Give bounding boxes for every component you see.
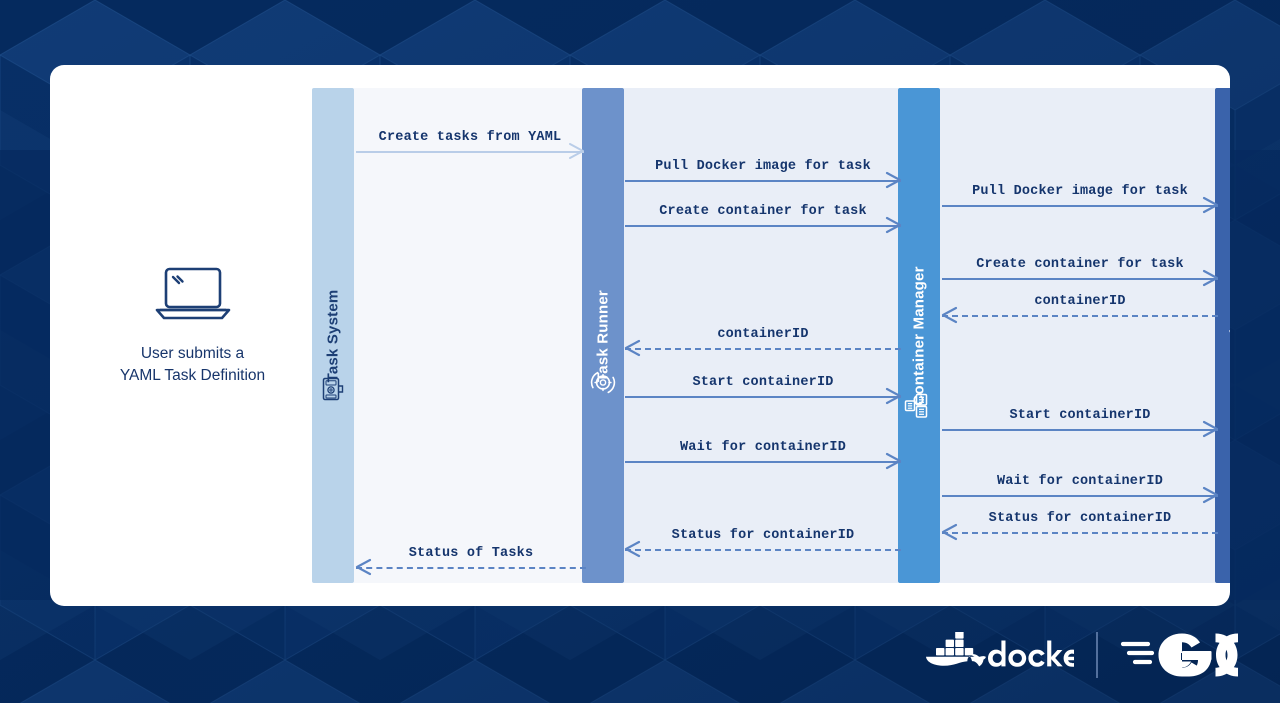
arrow-head-left-icon [940, 523, 958, 541]
arrow-head-left-icon [354, 558, 372, 576]
message-line [356, 151, 584, 153]
arrow-head-right-icon [1202, 420, 1220, 438]
message-line [942, 278, 1218, 280]
arrow-head-left-icon [623, 540, 641, 558]
lifeline-container-manager[interactable]: Container Manager [898, 88, 940, 583]
message-line [625, 461, 901, 463]
message-label: Wait for containerID [625, 440, 901, 455]
gear-refresh-icon [590, 369, 617, 396]
footer-logos [922, 629, 1238, 681]
sequence-diagram: Task System Task Runner [260, 88, 1220, 583]
message-line [942, 532, 1218, 534]
message-label: Create tasks from YAML [356, 130, 584, 145]
arrow-head-right-icon [885, 387, 903, 405]
system-cabinet-icon [320, 376, 346, 402]
arrow-head-right-icon [885, 216, 903, 234]
arrow-head-right-icon [885, 171, 903, 189]
lifeline-label-task-runner: Task Runner [595, 290, 612, 382]
message-line [942, 205, 1218, 207]
message-line [625, 396, 901, 398]
diagram-card: User submits a YAML Task Definition Task… [50, 65, 1230, 606]
message-line [625, 225, 901, 227]
message-line [942, 315, 1218, 317]
docker-whale-icon [1223, 343, 1230, 375]
message-label: containerID [942, 294, 1218, 309]
message-line [625, 348, 901, 350]
arrow-head-right-icon [1202, 269, 1220, 287]
arrow-head-right-icon [1202, 486, 1220, 504]
message-label: Status for containerID [625, 528, 901, 543]
arrow-head-left-icon [940, 306, 958, 324]
arrow-head-right-icon [885, 452, 903, 470]
message-label: Pull Docker image for task [942, 184, 1218, 199]
message-line [625, 549, 901, 551]
lifeline-task-system[interactable]: Task System [312, 88, 354, 583]
message-label: Wait for containerID [942, 474, 1218, 489]
message-label: Create container for task [625, 204, 901, 219]
lifeline-task-runner[interactable]: Task Runner [582, 88, 624, 583]
panel-container-manager-to-docker [940, 88, 1215, 583]
message-label: Start containerID [625, 375, 901, 390]
arrow-head-right-icon [568, 142, 586, 160]
docker-logo [922, 632, 1074, 678]
message-line [356, 567, 586, 569]
lifeline-docker[interactable]: Docker [1215, 88, 1230, 583]
message-label: Create container for task [942, 257, 1218, 272]
message-label: Status of Tasks [356, 546, 586, 561]
containers-stack-icon [904, 393, 934, 419]
message-label: Status for containerID [942, 511, 1218, 526]
message-label: Start containerID [942, 408, 1218, 423]
lifeline-label-container-manager: Container Manager [911, 266, 928, 405]
arrow-head-right-icon [1202, 196, 1220, 214]
laptop-icon [151, 265, 235, 325]
panel-task-system-to-runner [354, 88, 582, 583]
arrow-head-left-icon [623, 339, 641, 357]
message-line [942, 495, 1218, 497]
message-line [942, 429, 1218, 431]
message-line [625, 180, 901, 182]
logo-divider [1096, 632, 1098, 678]
go-logo [1120, 629, 1238, 681]
lifeline-label-task-system: Task System [325, 289, 342, 382]
message-label: containerID [625, 327, 901, 342]
message-label: Pull Docker image for task [625, 159, 901, 174]
